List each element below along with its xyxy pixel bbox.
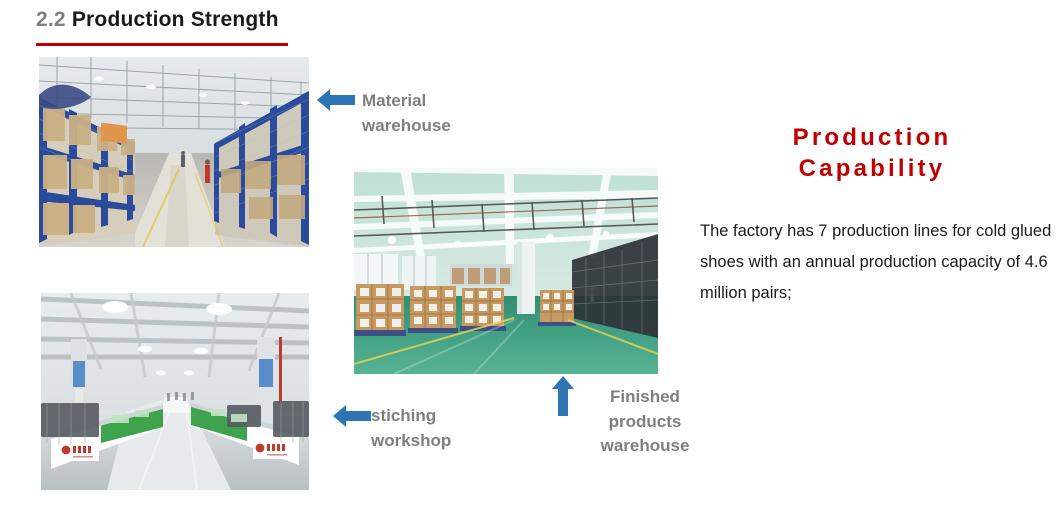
arrow-up-icon-finished [551, 376, 575, 416]
capability-heading-line2: Capability [700, 154, 1044, 185]
callout-label-finished-products-warehouse: Finished products warehouse [580, 385, 710, 459]
arrow-left-icon-stitching [333, 404, 371, 428]
photo-stitching-workshop [41, 293, 309, 490]
capability-heading: Production Capability [700, 123, 1044, 184]
slide-production-strength: 2.2 Production Strength [0, 0, 1060, 514]
callout-finished-line2: products [580, 410, 710, 435]
capability-body-text: The factory has 7 production lines for c… [700, 216, 1052, 309]
photo-material-warehouse [39, 57, 309, 247]
callout-finished-line1: Finished [580, 385, 710, 410]
photo-finished-products-warehouse [354, 168, 658, 374]
capability-heading-line1: Production [700, 123, 1044, 154]
title-underline-rule [36, 43, 288, 46]
page-title: 2.2 Production Strength [36, 8, 279, 32]
callout-material-line2: warehouse [362, 114, 522, 139]
section-title: Production Strength [72, 8, 279, 31]
callout-material-line1: Material [362, 89, 522, 114]
callout-label-material-warehouse: Material warehouse [362, 89, 522, 138]
callout-label-stitching-workshop: stiching workshop [371, 404, 541, 453]
callout-stitching-line2: workshop [371, 429, 541, 454]
callout-stitching-line1: stiching [371, 404, 541, 429]
callout-finished-line3: warehouse [580, 434, 710, 459]
section-number: 2.2 [36, 8, 66, 31]
arrow-left-icon-material [317, 88, 355, 112]
